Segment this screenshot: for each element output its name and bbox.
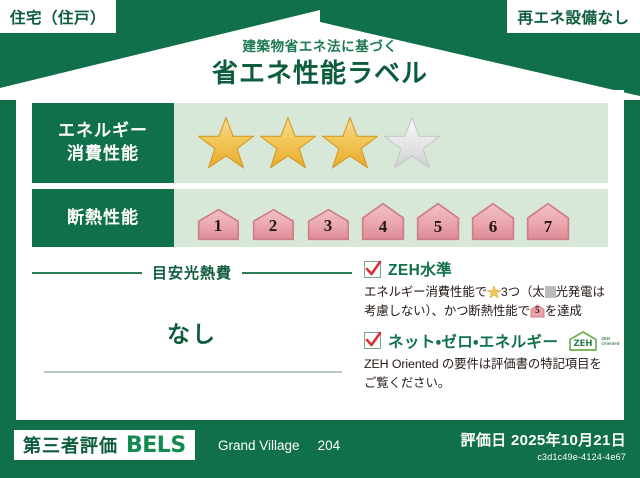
insulation-grade-chip-number: 5 [530, 304, 545, 318]
rule-right [242, 272, 352, 274]
zeh-info-panel: ZEH水準 エネルギー消費性能で3つ（太光発電は考慮しない）、かつ断熱性能で5を… [364, 258, 608, 403]
insulation-grade-number: 5 [412, 217, 464, 237]
insulation-grade-chip: 5 [530, 304, 545, 318]
insulation-grade-house: 7 [522, 202, 574, 241]
tag-renewable-equipment-label: 再エネ設備なし [517, 6, 629, 28]
evaluation-id: c3d1c49e-4124-4e67 [461, 452, 626, 462]
star-empty-icon [384, 116, 440, 170]
tag-renewable-equipment: 再エネ設備なし [507, 0, 640, 33]
insulation-performance-row: 断熱性能 1 2 [32, 189, 608, 247]
zeh-desc-mid: 3つ（太 [501, 285, 545, 299]
zeh-standard-heading: ZEH水準 [364, 258, 608, 280]
utility-cost-section: 目安光熱費 なし [32, 258, 352, 403]
tag-building-type: 住宅（住戸） [0, 0, 116, 33]
zeh-logo-icon: ZEH ZEH Oriented [567, 330, 619, 352]
energy-performance-row: エネルギー 消費性能 [32, 103, 608, 183]
energy-performance-label-line2: 消費性能 [67, 143, 139, 166]
utility-cost-value: なし [32, 315, 352, 349]
net-zero-energy-title: ネット・ゼロ・エネルギー [388, 330, 558, 352]
bels-logo-text: BELS [126, 433, 186, 458]
footer-bar: 第三者評価 BELS Grand Village204 評価日 2025年10月… [0, 420, 640, 478]
utility-cost-header: 目安光熱費 [32, 262, 352, 283]
insulation-performance-label: 断熱性能 [32, 189, 174, 247]
zeh-logo-sub2: Oriented [601, 341, 619, 346]
label-body-panel: エネルギー 消費性能 [16, 90, 624, 420]
insulation-grade-house: 1 [192, 208, 244, 241]
insulation-grade-house: 2 [247, 208, 299, 241]
utility-cost-title: 目安光熱費 [152, 262, 232, 283]
insulation-grade-number: 6 [467, 217, 519, 237]
insulation-grade-number: 2 [247, 216, 299, 236]
net-zero-energy-description: ZEH Oriented の要件は評価書の特記項目をご覧ください。 [364, 355, 608, 393]
net-zero-energy-heading: ネット・ゼロ・エネルギー ZEH ZEH Oriented [364, 330, 608, 352]
energy-label-root: 住宅（住戸） 再エネ設備なし 建築物省エネ法に基づく 省エネ性能ラベル エネルギ… [0, 0, 640, 478]
zeh-standard-description: エネルギー消費性能で3つ（太光発電は考慮しない）、かつ断熱性能で5を達成 [364, 283, 608, 321]
insulation-grade-house: 4 [357, 202, 409, 241]
energy-performance-label-line1: エネルギー [58, 120, 148, 143]
checkmark-icon [364, 261, 381, 278]
third-party-eval-label: 第三者評価 [23, 432, 118, 458]
tag-building-type-label: 住宅（住戸） [10, 6, 106, 28]
zeh-logo-subtext: ZEH Oriented [601, 336, 619, 346]
checkmark-icon [364, 332, 381, 349]
energy-performance-label: エネルギー 消費性能 [32, 103, 174, 183]
building-unit-number: 204 [318, 438, 341, 453]
zeh-desc-end: を達成 [545, 304, 582, 318]
missing-glyph-box [545, 286, 556, 298]
building-name: Grand Village [218, 438, 300, 453]
insulation-grade-house: 3 [302, 208, 354, 241]
bels-badge: 第三者評価 BELS [14, 430, 195, 460]
svg-text:ZEH: ZEH [574, 339, 593, 349]
energy-performance-stars [174, 103, 608, 183]
insulation-grade-scale: 1 2 3 4 [174, 189, 608, 247]
star-filled-icon [322, 116, 378, 170]
insulation-grade-number: 1 [192, 216, 244, 236]
evaluation-info: 評価日 2025年10月21日 c3d1c49e-4124-4e67 [461, 429, 626, 462]
zeh-desc-pre: エネルギー消費性能で [364, 285, 487, 299]
star-filled-icon [260, 116, 316, 170]
insulation-grade-house: 5 [412, 202, 464, 241]
zeh-standard-title: ZEH水準 [388, 258, 452, 280]
insulation-grade-number: 3 [302, 216, 354, 236]
building-identification: Grand Village204 [218, 438, 340, 453]
insulation-grade-number: 4 [357, 217, 409, 237]
insulation-grade-number: 7 [522, 217, 574, 237]
net-zero-energy-block: ネット・ゼロ・エネルギー ZEH ZEH Oriented ZEH Orient… [364, 330, 608, 393]
evaluation-date: 評価日 2025年10月21日 [461, 429, 626, 450]
insulation-performance-label-text: 断熱性能 [67, 207, 139, 230]
star-filled-icon [198, 116, 254, 170]
utility-cost-bottom-rule [44, 371, 342, 373]
inline-star-icon [487, 285, 501, 299]
insulation-grade-house: 6 [467, 202, 519, 241]
rule-left [32, 272, 142, 274]
